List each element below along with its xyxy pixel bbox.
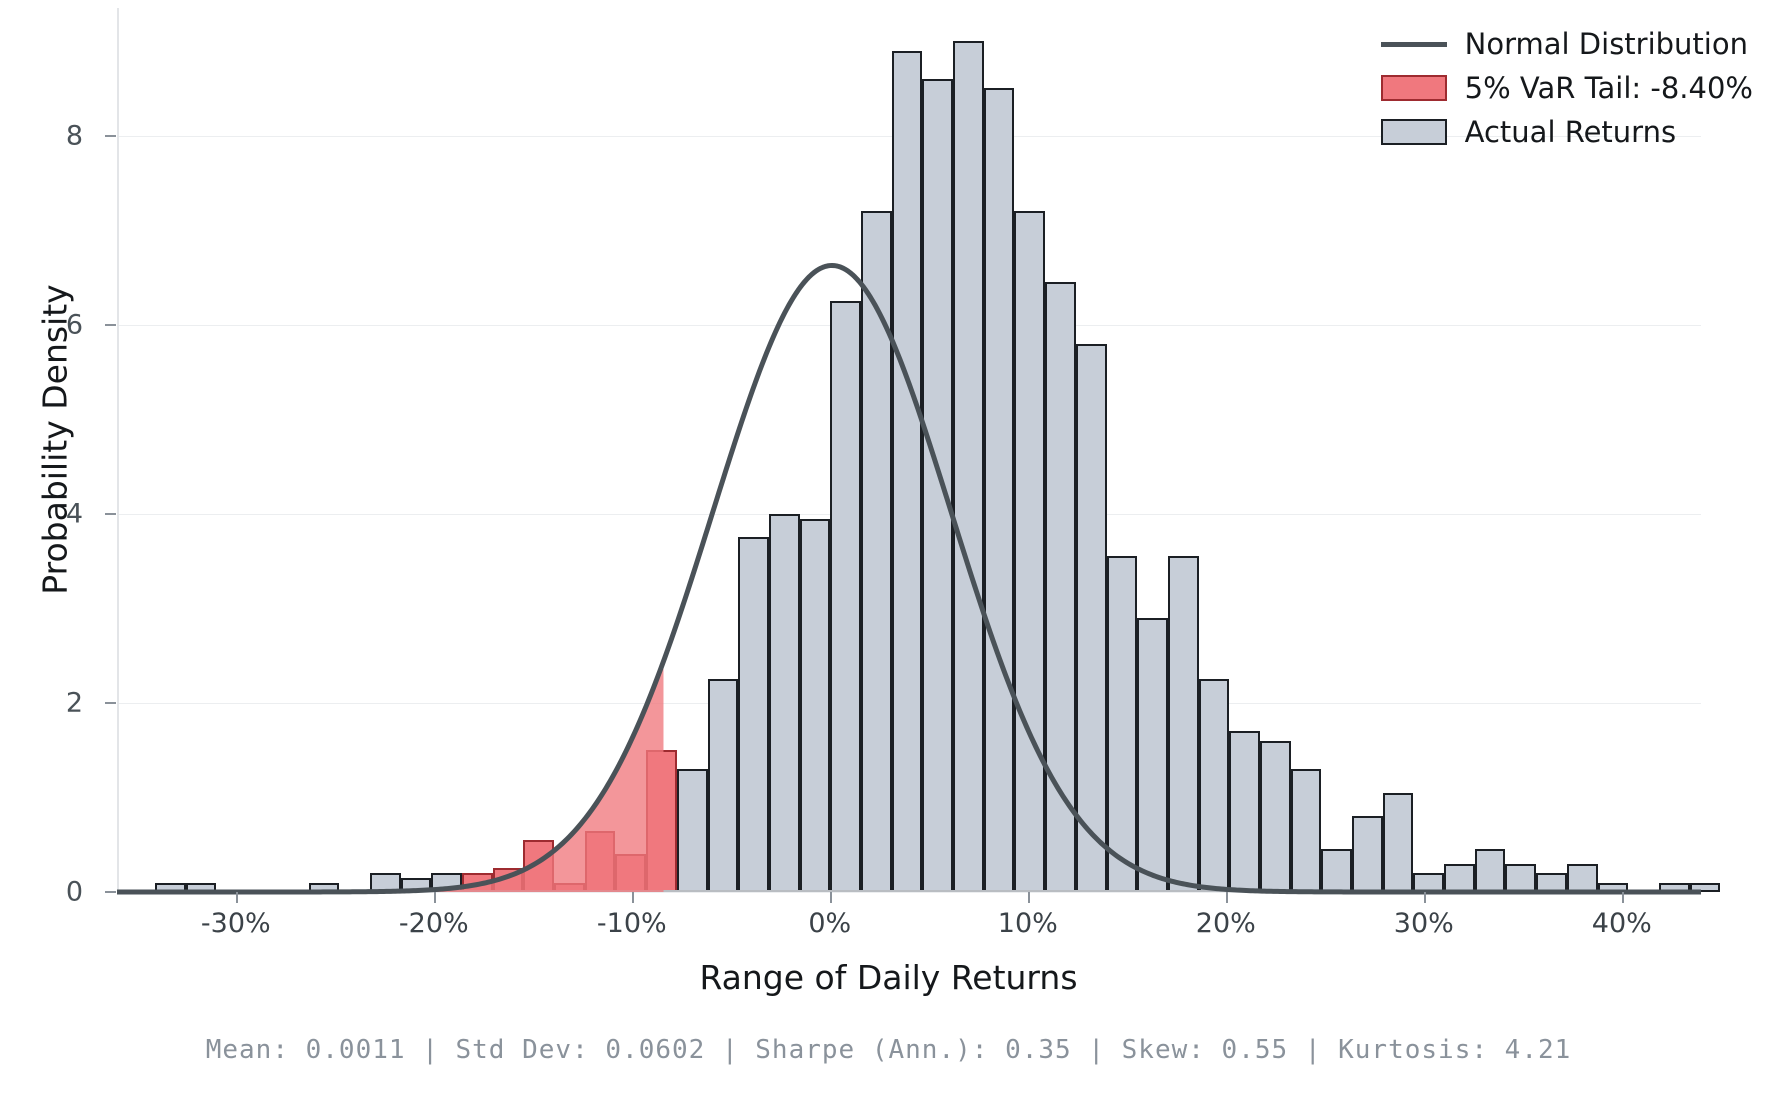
x-axis-tick-mark — [1028, 892, 1030, 903]
normal-curve-path — [117, 265, 1701, 892]
legend-patch-swatch-icon — [1381, 75, 1447, 101]
legend-label: Actual Returns — [1465, 115, 1676, 149]
var-tail-shaded-region — [117, 661, 663, 892]
y-axis-tick-label: 4 — [66, 498, 83, 529]
y-axis-tick-mark — [105, 135, 116, 137]
x-axis-tick-label: -30% — [201, 908, 271, 939]
x-axis-tick-mark — [1424, 892, 1426, 903]
x-axis-tick-label: 0% — [808, 908, 851, 939]
y-axis-tick-label: 8 — [66, 120, 83, 151]
legend-patch-swatch-icon — [1381, 119, 1447, 145]
chart-figure: Range of Daily Returns Probability Densi… — [0, 0, 1777, 1105]
y-axis-tick-label: 6 — [66, 309, 83, 340]
y-axis-tick-mark — [105, 891, 116, 893]
y-axis-label: Probability Density — [36, 40, 75, 840]
legend-line-swatch-icon — [1381, 42, 1447, 47]
y-axis-tick-mark — [105, 513, 116, 515]
x-axis-tick-label: 30% — [1394, 908, 1454, 939]
y-axis-tick-label: 2 — [66, 687, 83, 718]
x-axis-tick-label: -20% — [399, 908, 469, 939]
x-axis-tick-mark — [830, 892, 832, 903]
x-axis-label: Range of Daily Returns — [0, 958, 1777, 997]
stats-footer: Mean: 0.0011 | Std Dev: 0.0602 | Sharpe … — [0, 1035, 1777, 1065]
y-axis-tick-mark — [105, 324, 116, 326]
y-axis-tick-label: 0 — [66, 877, 83, 908]
legend-item-var-tail[interactable]: 5% VaR Tail: -8.40% — [1381, 70, 1753, 106]
legend-label: Normal Distribution — [1465, 27, 1748, 61]
legend-label: 5% VaR Tail: -8.40% — [1465, 71, 1753, 105]
x-axis-tick-mark — [632, 892, 634, 903]
chart-legend[interactable]: Normal Distribution 5% VaR Tail: -8.40% … — [1375, 22, 1759, 162]
y-axis-tick-mark — [105, 702, 116, 704]
legend-item-actual-returns[interactable]: Actual Returns — [1381, 114, 1753, 150]
x-axis-tick-label: 20% — [1196, 908, 1256, 939]
x-axis-tick-label: 40% — [1592, 908, 1652, 939]
legend-item-normal-distribution[interactable]: Normal Distribution — [1381, 26, 1753, 62]
x-axis-tick-mark — [434, 892, 436, 903]
x-axis-tick-mark — [236, 892, 238, 903]
x-axis-tick-label: -10% — [597, 908, 667, 939]
x-axis-tick-mark — [1622, 892, 1624, 903]
x-axis-tick-mark — [1226, 892, 1228, 903]
x-axis-tick-label: 10% — [998, 908, 1058, 939]
